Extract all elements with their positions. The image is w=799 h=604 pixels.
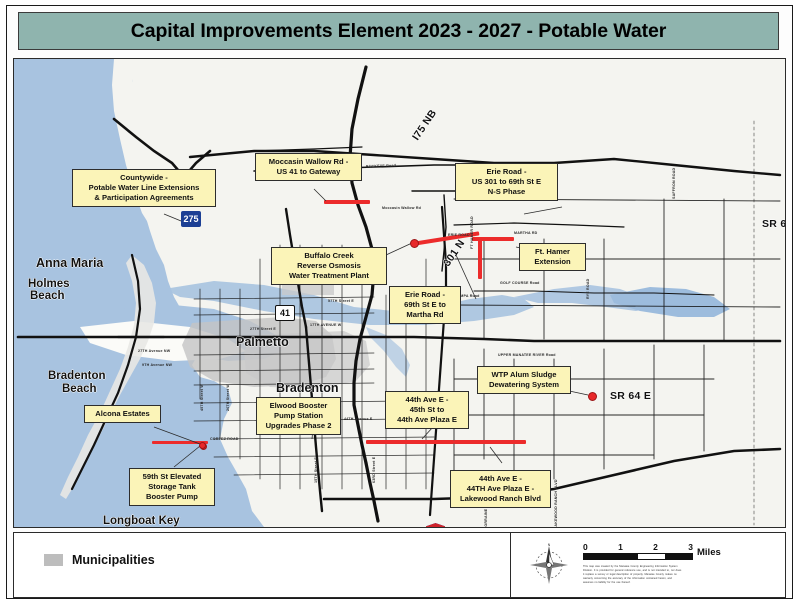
callout-erie-road-ns[interactable]: Erie Road - US 301 to 69th St E N-S Phas… (455, 163, 558, 201)
marker-buffalo-creek-wtp[interactable] (410, 239, 419, 248)
legend-panel: Municipalities (13, 532, 510, 598)
scale-unit-label: Miles (697, 547, 721, 558)
scale-bar: 0 1 2 3 (583, 542, 693, 560)
legend-item-municipalities: Municipalities (44, 553, 155, 567)
disclaimer-line-5: assumes no liability for the use thereof… (583, 581, 758, 585)
map-disclaimer: This map was created by the Manatee Coun… (583, 565, 758, 584)
callout-moccasin-wallow[interactable]: Moccasin Wallow Rd - US 41 to Gateway (255, 153, 362, 181)
callout-buffalo-creek[interactable]: Buffalo Creek Reverse Osmosis Water Trea… (271, 247, 387, 285)
scale-bar-graphic (583, 553, 693, 560)
legend-item-label: Municipalities (72, 553, 155, 567)
scale-tick-2: 2 (653, 542, 658, 552)
scale-tick-3: 3 (688, 542, 693, 552)
scale-panel: N 0 1 2 3 Miles This map was created by … (510, 532, 786, 598)
compass-rose-icon: N (527, 543, 571, 587)
callout-wtp-alum-sludge[interactable]: WTP Alum Sludge Dewatering System (477, 366, 571, 394)
callout-ft-hamer[interactable]: Ft. Hamer Extension (519, 243, 586, 271)
map-title-banner: Capital Improvements Element 2023 - 2027… (18, 12, 779, 50)
callout-44th-ave-lakewood[interactable]: 44th Ave E - 44TH Ave Plaza E - Lakewood… (450, 470, 551, 508)
svg-text:N: N (548, 543, 551, 547)
map-canvas[interactable]: Countywide - Potable Water Line Extensio… (13, 58, 786, 528)
map-footer: Municipalities N 0 1 (13, 532, 786, 598)
marker-59th-st-tank[interactable] (199, 442, 206, 449)
shield-us-41-north: 41 (275, 305, 295, 321)
callout-countywide[interactable]: Countywide - Potable Water Line Extensio… (72, 169, 216, 207)
callout-59th-st-storage-tank[interactable]: 59th St Elevated Storage Tank Booster Pu… (129, 468, 215, 506)
callout-alcona-estates[interactable]: Alcona Estates (84, 405, 161, 423)
marker-wtp-alum-sludge[interactable] (588, 392, 597, 401)
callout-erie-road-martha[interactable]: Erie Road - 69th St E to Martha Rd (389, 286, 461, 324)
callout-elwood-booster[interactable]: Elwood Booster Pump Station Upgrades Pha… (256, 397, 341, 435)
scale-tick-labels: 0 1 2 3 (583, 542, 693, 552)
map-page: Capital Improvements Element 2023 - 2027… (0, 0, 799, 604)
page-title: Capital Improvements Element 2023 - 2027… (131, 20, 667, 43)
shield-i275: 275 (181, 211, 201, 227)
callout-44th-ave-45th-st[interactable]: 44th Ave E - 45th St to 44th Ave Plaza E (385, 391, 469, 429)
scale-tick-1: 1 (618, 542, 623, 552)
scale-tick-0: 0 (583, 542, 588, 552)
municipalities-swatch (44, 554, 63, 566)
